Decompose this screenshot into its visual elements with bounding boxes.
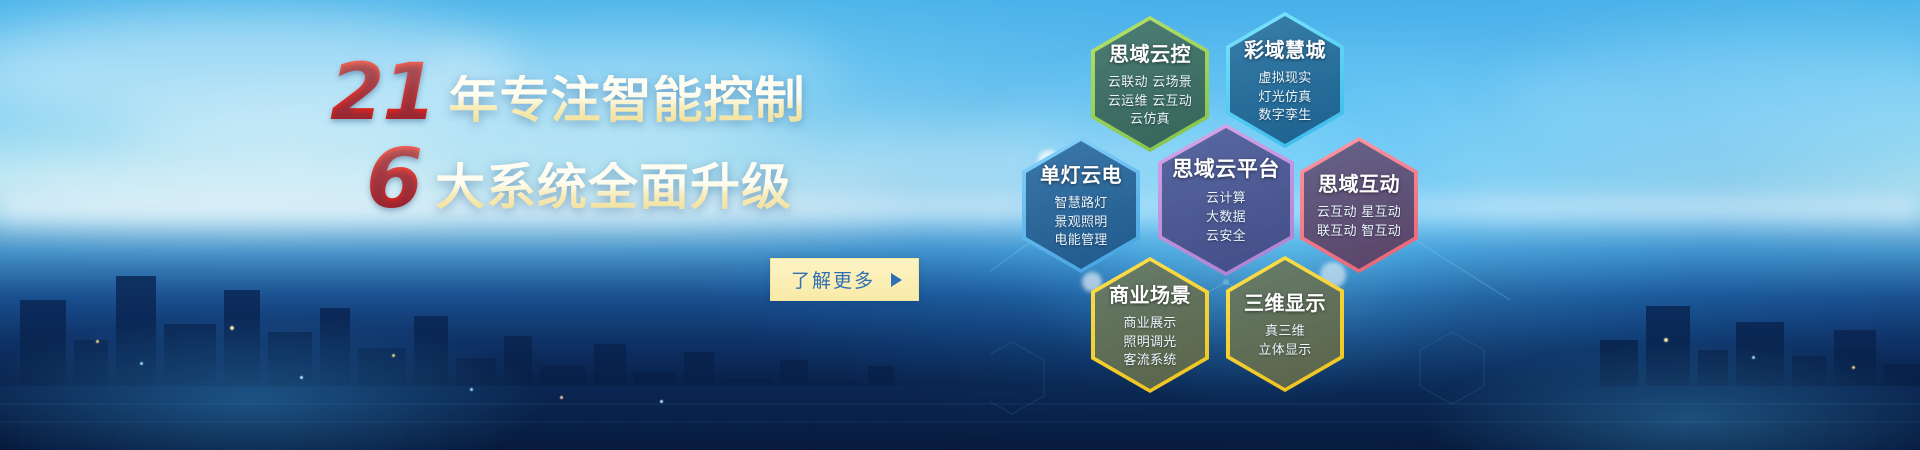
- hex-title: 商业场景: [1109, 279, 1191, 308]
- hex-siyu-cloud-control[interactable]: 思域云控 云联动 云场景 云运维 云互动 云仿真: [1091, 16, 1209, 152]
- hex-subtitle: 客流系统: [1109, 352, 1191, 371]
- city-light: [1664, 338, 1668, 342]
- hex-title: 三维显示: [1244, 287, 1326, 316]
- hex-title: 单灯云电: [1040, 159, 1122, 188]
- hex-commercial-scene[interactable]: 商业场景 商业展示 照明调光 客流系统: [1091, 257, 1209, 393]
- hex-subtitle: 云仿真: [1108, 111, 1192, 130]
- city-skyline: [0, 190, 1920, 450]
- city-light: [470, 388, 473, 391]
- play-triangle-icon: [891, 273, 902, 287]
- hex-siyu-cloud-platform[interactable]: 思域云平台 云计算 大数据 云安全: [1158, 124, 1294, 276]
- hex-subtitle: 灯光仿真: [1244, 89, 1326, 108]
- headline-number-systems: 6: [366, 142, 435, 217]
- hex-single-lamp-cloud[interactable]: 单灯云电 智慧路灯 景观照明 电能管理: [1022, 137, 1140, 273]
- headline-line-1: 21 年专注智能控制: [330, 58, 850, 130]
- hex-subtitle: 联互动 智互动: [1317, 223, 1401, 242]
- city-light: [140, 362, 143, 365]
- hex-subtitle: 智慧路灯: [1040, 195, 1122, 214]
- hex-three-d-display[interactable]: 三维显示 真三维 立体显示: [1226, 256, 1344, 392]
- hex-subtitle: 云计算: [1172, 190, 1280, 209]
- headline-block: 21 年专注智能控制 6 大系统全面升级: [330, 58, 850, 217]
- cloud-haze: [1500, 40, 1920, 150]
- hex-title: 思域云控: [1108, 38, 1192, 67]
- skyline-silhouette: [0, 190, 1920, 450]
- headline-text-2: 大系统全面升级: [435, 162, 792, 217]
- hex-subtitle: 真三维: [1244, 323, 1326, 342]
- learn-more-label: 了解更多: [791, 266, 875, 293]
- hex-title: 思域互动: [1317, 168, 1401, 197]
- hex-subtitle: 云互动 星互动: [1317, 204, 1401, 223]
- city-light: [300, 376, 303, 379]
- headline-line-2: 6 大系统全面升级: [366, 142, 850, 217]
- city-light: [560, 396, 563, 399]
- hex-subtitle: 云联动 云场景: [1108, 74, 1192, 93]
- learn-more-button[interactable]: 了解更多: [770, 258, 919, 301]
- hex-subtitle: 虚拟现实: [1244, 70, 1326, 89]
- promo-banner: 21 年专注智能控制 6 大系统全面升级 了解更多: [0, 0, 1920, 450]
- hex-subtitle: 立体显示: [1244, 342, 1326, 361]
- headline-number-years: 21: [330, 58, 449, 130]
- hex-subtitle: 数字孪生: [1244, 107, 1326, 126]
- city-light: [1852, 366, 1855, 369]
- hexagon-cluster: 思域云控 云联动 云场景 云运维 云互动 云仿真 彩域慧城 虚拟现实 灯光仿真 …: [990, 0, 1510, 450]
- city-light: [230, 326, 234, 330]
- city-light: [1752, 356, 1755, 359]
- city-light: [660, 400, 663, 403]
- headline-text-1: 年专注智能控制: [449, 75, 806, 130]
- hex-subtitle: 云安全: [1172, 228, 1280, 247]
- hex-title: 思域云平台: [1172, 153, 1280, 183]
- city-light: [392, 354, 395, 357]
- hex-siyu-interaction[interactable]: 思域互动 云互动 星互动 联互动 智互动: [1300, 137, 1418, 273]
- city-light: [96, 340, 99, 343]
- hex-subtitle: 照明调光: [1109, 334, 1191, 353]
- hex-subtitle: 云运维 云互动: [1108, 93, 1192, 112]
- hex-title: 彩域慧城: [1244, 34, 1326, 63]
- hex-subtitle: 商业展示: [1109, 315, 1191, 334]
- hex-subtitle: 景观照明: [1040, 214, 1122, 233]
- hex-subtitle: 大数据: [1172, 209, 1280, 228]
- hex-caiyu-smart-city[interactable]: 彩域慧城 虚拟现实 灯光仿真 数字孪生: [1226, 12, 1344, 148]
- hex-subtitle: 电能管理: [1040, 232, 1122, 251]
